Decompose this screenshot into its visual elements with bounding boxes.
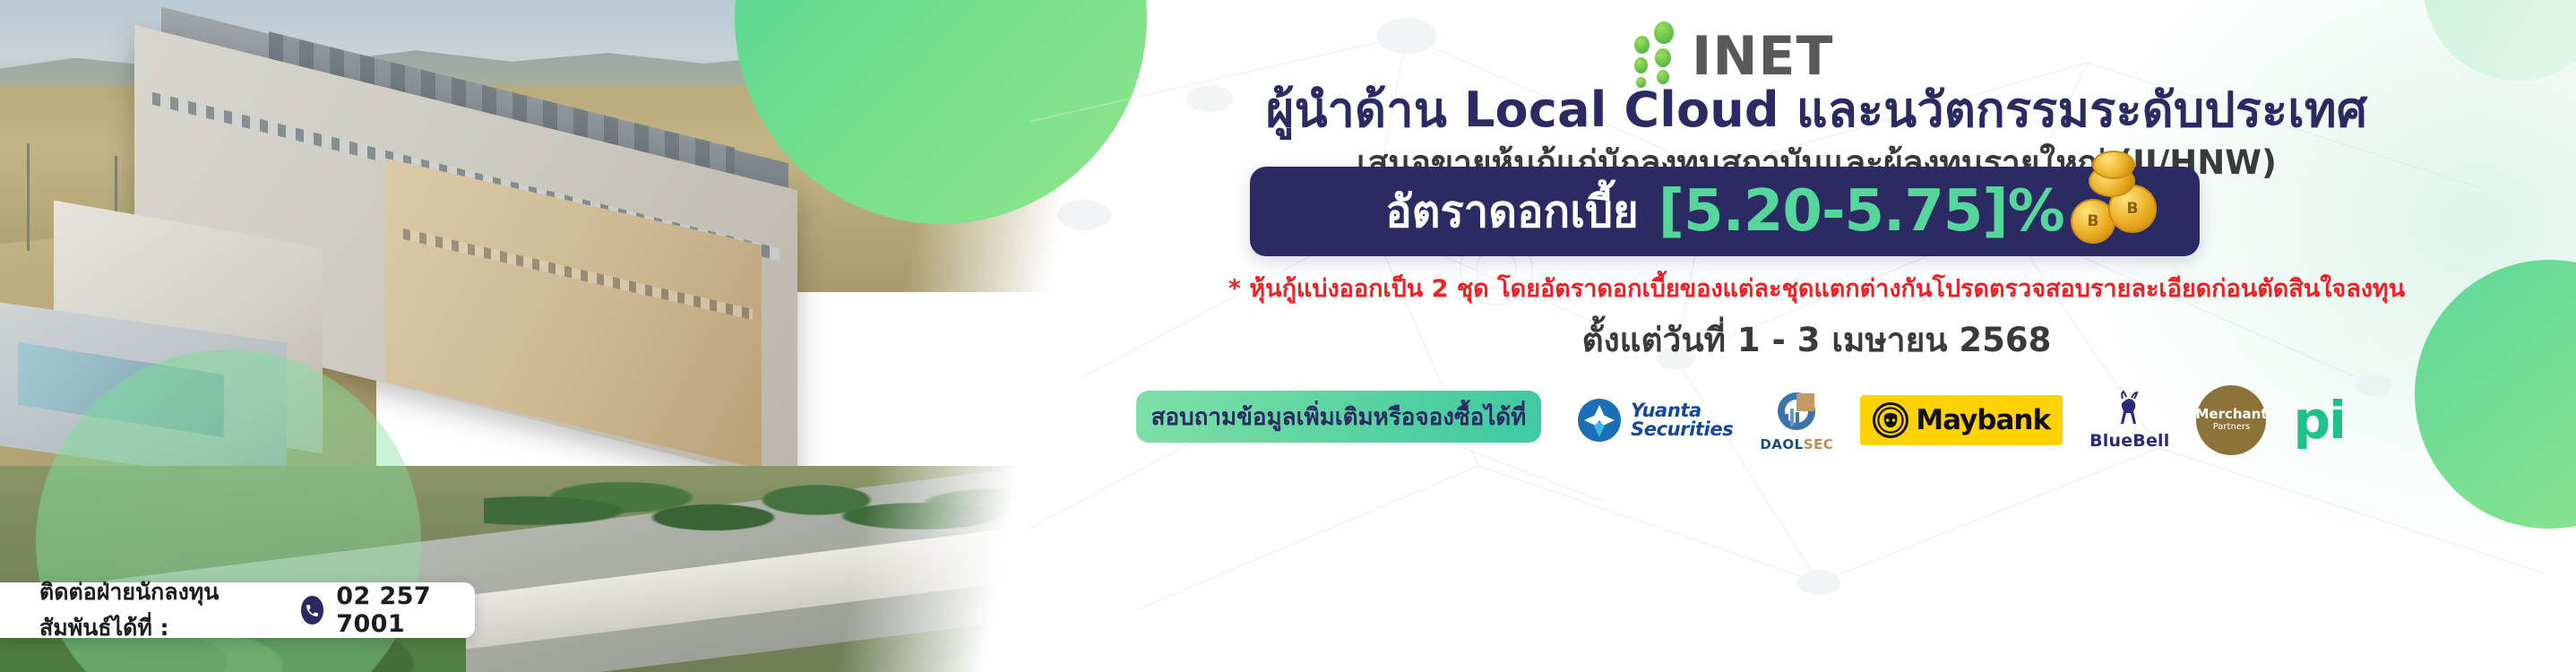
partner-logo-yuanta[interactable]: Yuanta Securities: [1577, 398, 1733, 443]
partner-logo-merchant-partners[interactable]: Merchant Partners: [2196, 385, 2266, 455]
page-title: ผู้นำด้าน Local Cloud และนวัตกรรมระดับปร…: [1057, 82, 2576, 138]
inet-logo-text: INET: [1692, 31, 1833, 82]
inet-green-dots-logo: [1631, 16, 1686, 82]
partner-logo-daol[interactable]: DAOLSEC: [1760, 389, 1833, 452]
contact-phone-number: 02 257 7001: [336, 582, 475, 638]
gold-coins-stack-icon: B B: [2069, 151, 2167, 251]
daol-circle-chart-icon: [1774, 389, 1819, 434]
disclaimer-note: * หุ้นกู้แบ่งออกเป็น 2 ชุด โดยอัตราดอกเบ…: [1057, 269, 2576, 307]
interest-rate-value: [5.20-5.75]%: [1658, 178, 2064, 245]
interest-rate-box: อัตราดอกเบี้ย [5.20-5.75]% B B: [1250, 167, 2200, 256]
content-column: INET ผู้นำด้าน Local Cloud และนวัตกรรมระ…: [1057, 0, 2576, 672]
bluebell-deer-icon: [2110, 390, 2150, 429]
bluebell-wordmark: BlueBell: [2089, 431, 2169, 451]
cta-and-partners-row: สอบถามข้อมูลเพิ่มเติมหรือจองซื้อได้ที่: [1057, 385, 2576, 457]
partner-logo-bluebell[interactable]: BlueBell: [2089, 390, 2169, 451]
maybank-tiger-icon: [1873, 402, 1908, 438]
yuanta-wordmark: Yuanta Securities: [1631, 401, 1733, 439]
coin-stack-top-2: [2092, 151, 2135, 179]
maybank-wordmark: Maybank: [1916, 404, 2050, 436]
investor-relations-contact-bar[interactable]: ติดต่อฝ่ายนักลงทุนสัมพันธ์ได้ที่ : 02 25…: [0, 582, 475, 638]
offer-date-range: ตั้งแต่วันที่ 1 - 3 เมษายน 2568: [1057, 314, 2576, 366]
merchant-subwordmark: Partners: [2213, 421, 2251, 434]
inet-logo: INET: [1631, 13, 1989, 82]
daol-wordmark: DAOLSEC: [1760, 436, 1833, 452]
phone-icon: [301, 596, 324, 625]
partner-logo-strip: Yuanta Securities: [1577, 382, 2572, 459]
partner-logo-maybank[interactable]: Maybank: [1860, 395, 2063, 445]
merchant-wordmark: Merchant: [2195, 408, 2267, 421]
subscribe-inquiry-button[interactable]: สอบถามข้อมูลเพิ่มเติมหรือจองซื้อได้ที่: [1136, 391, 1541, 443]
contact-label: ติดต่อฝ่ายนักลงทุนสัมพันธ์ได้ที่ :: [39, 574, 289, 646]
partner-logo-pi[interactable]: pi: [2293, 400, 2344, 441]
promo-banner: INET ผู้นำด้าน Local Cloud และนวัตกรรมระ…: [0, 0, 2576, 672]
interest-rate-label: อัตราดอกเบี้ย: [1385, 177, 1639, 246]
yuanta-star-icon: [1577, 398, 1622, 443]
pi-wordmark-icon: pi: [2293, 400, 2344, 441]
